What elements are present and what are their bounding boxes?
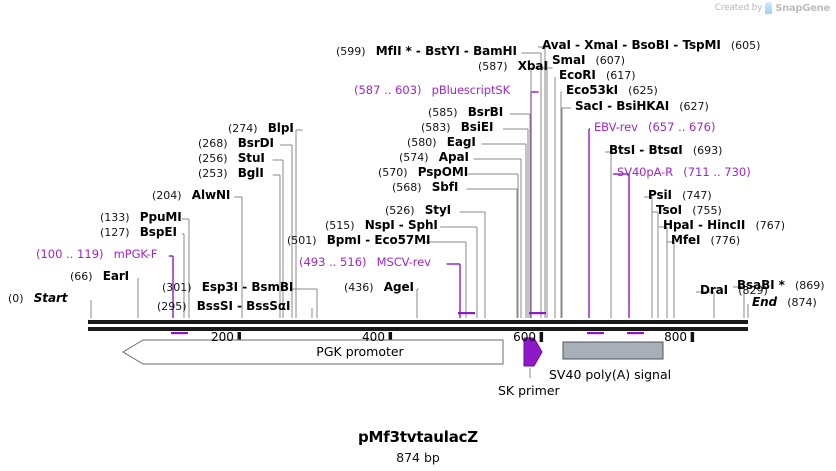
- enzyme-label-bglI[interactable]: (253) BglI: [198, 164, 264, 180]
- enzyme-name: BstYI: [425, 44, 460, 58]
- label-gap: [182, 184, 192, 203]
- enzyme-position: (66): [70, 270, 93, 283]
- enzyme-name: Start: [34, 291, 68, 305]
- enzyme-name-separator: -: [412, 44, 425, 58]
- label-gap: [638, 116, 648, 135]
- enzyme-name: SphI: [408, 218, 438, 232]
- label-gap: [366, 40, 376, 59]
- enzyme-position: (580): [407, 136, 437, 149]
- enzyme-position: (693): [693, 144, 723, 157]
- enzyme-name-separator: -: [603, 99, 616, 113]
- enzyme-name-group: EBV-rev: [594, 116, 638, 135]
- enzyme-name: EagI: [447, 135, 476, 149]
- label-gap: [192, 276, 202, 295]
- enzyme-position: (526): [385, 204, 415, 217]
- enzyme-name-separator: -: [669, 38, 682, 52]
- enzyme-name-group: End: [752, 291, 777, 310]
- enzyme-label-bsrDI[interactable]: (268) BsrDI: [198, 134, 274, 150]
- label-gap: [93, 265, 103, 284]
- enzyme-label-stuI[interactable]: (256) StuI: [198, 149, 265, 165]
- enzyme-name-separator: -: [361, 233, 374, 247]
- plasmid-title-block: pMf3tvtaulacZ 874 bp: [0, 428, 836, 465]
- label-gap: [187, 295, 197, 314]
- enzyme-name-separator: -: [618, 38, 631, 52]
- enzyme-position: (599): [336, 45, 366, 58]
- enzyme-name-separator: -: [238, 280, 251, 294]
- enzyme-name: PspOMI: [418, 165, 468, 179]
- enzyme-name: SV40pA-R: [617, 165, 673, 179]
- enzyme-name: BlpI: [268, 121, 294, 135]
- enzyme-name-group: MfeI: [671, 229, 700, 248]
- enzyme-name-group: MfII * - BstYI - BamHI: [376, 40, 517, 59]
- enzyme-position: (493 .. 516): [299, 255, 367, 269]
- label-gap: [683, 139, 693, 158]
- label-gap: [669, 95, 679, 114]
- enzyme-label-bsabI[interactable]: BsaBI * (869): [737, 276, 825, 292]
- enzyme-name: pBluescriptSK: [432, 83, 510, 97]
- enzyme-label-earI[interactable]: (66) EarI: [70, 267, 129, 283]
- enzyme-name: MSCV-rev: [377, 255, 431, 269]
- enzyme-label-apaI[interactable]: (574) ApaI: [399, 148, 469, 164]
- enzyme-name: Esp3I: [202, 280, 238, 294]
- feature-highlight-segment: [627, 332, 644, 334]
- enzyme-label-end[interactable]: End (874): [752, 293, 817, 309]
- enzyme-name: Eco57MI: [374, 233, 430, 247]
- enzyme-position: (570): [378, 166, 408, 179]
- enzyme-position: (253): [198, 167, 228, 180]
- enzyme-label-mscv-rev[interactable]: (493 .. 516) MSCV-rev: [299, 253, 431, 269]
- enzyme-position: (133): [100, 211, 130, 224]
- enzyme-position: (515): [325, 219, 355, 232]
- enzyme-name-group: BlpI: [268, 117, 294, 136]
- label-gap: [745, 214, 755, 233]
- ruler-tick: [540, 332, 544, 342]
- enzyme-name-separator: -: [635, 143, 648, 157]
- enzyme-name: End: [752, 295, 777, 309]
- enzyme-name: PpuMI: [140, 210, 182, 224]
- enzyme-name: BssSI: [197, 299, 233, 313]
- enzyme-name: StyI: [425, 203, 451, 217]
- enzyme-label-bspEI[interactable]: (127) BspEI: [100, 223, 177, 239]
- feature-highlight-segment: [587, 332, 604, 334]
- enzyme-name: BsiHKAI: [616, 99, 669, 113]
- enzyme-name: ApaI: [439, 150, 469, 164]
- enzyme-position: (568): [392, 181, 422, 194]
- enzyme-label-ageI[interactable]: (436) AgeI: [344, 278, 414, 294]
- enzyme-name: MfeI: [671, 233, 700, 247]
- enzyme-name: TspMI: [682, 38, 720, 52]
- enzyme-position: (574): [399, 151, 429, 164]
- enzyme-name: AgeI: [384, 280, 414, 294]
- enzyme-position: (268): [198, 137, 228, 150]
- plasmid-size: 874 bp: [0, 450, 836, 465]
- feature-highlight-segment: [458, 312, 475, 314]
- enzyme-label-ppuMI[interactable]: (133) PpuMI: [100, 208, 182, 224]
- enzyme-position: (585): [428, 106, 458, 119]
- enzyme-label-esp3I-bsmbI[interactable]: (301) Esp3I - BsmBI: [162, 278, 293, 294]
- enzyme-position: (776): [711, 234, 741, 247]
- enzyme-name-separator: -: [395, 218, 408, 232]
- sequence-backbone: [88, 320, 748, 331]
- label-gap: [130, 206, 140, 225]
- enzyme-name-group: AgeI: [384, 276, 414, 295]
- enzyme-name: EarI: [103, 269, 129, 283]
- enzyme-name: SacI: [575, 99, 603, 113]
- label-gap: [700, 229, 710, 248]
- enzyme-name: BsaBI *: [737, 278, 785, 292]
- enzyme-label-bsrBI[interactable]: (585) BsrBI: [428, 103, 503, 119]
- label-gap: [374, 276, 384, 295]
- enzyme-name: BsrDI: [238, 136, 274, 150]
- enzyme-name-group: XbaI: [518, 55, 548, 74]
- enzyme-name-group: DraI: [700, 279, 728, 298]
- enzyme-position: (301): [162, 281, 192, 294]
- ruler-tick-label: 600: [513, 330, 536, 344]
- enzyme-name: HincII: [707, 218, 745, 232]
- enzyme-position: (874): [787, 296, 817, 309]
- enzyme-name-group: BssSI - BssSαI: [197, 295, 291, 314]
- enzyme-name: MfII *: [376, 44, 412, 58]
- enzyme-name: BamHI: [473, 44, 517, 58]
- enzyme-name-group: PpuMI: [140, 206, 182, 225]
- enzyme-label-pbluescriptsk[interactable]: (587 .. 603) pBluescriptSK: [354, 81, 510, 97]
- enzyme-name-group: BtsI - BtsαI: [609, 139, 683, 158]
- enzyme-name: BtsI: [609, 143, 635, 157]
- enzyme-label-bsiEI[interactable]: (583) BsiEI: [421, 118, 493, 134]
- label-gap: [258, 117, 268, 136]
- feature-label-sv40-polya-signal: SV40 poly(A) signal: [549, 367, 671, 382]
- enzyme-name-group: MSCV-rev: [377, 251, 431, 270]
- enzyme-label-xbaI[interactable]: (587) XbaI: [478, 57, 548, 73]
- enzyme-name-group: SacI - BsiHKAI: [575, 95, 669, 114]
- enzyme-name: SbfI: [432, 180, 459, 194]
- enzyme-name-group: StyI: [425, 199, 451, 218]
- enzyme-label-nspI-sphI[interactable]: (515) NspI - SphI: [325, 216, 438, 232]
- enzyme-label-btsI-btsai[interactable]: BtsI - BtsαI (693): [609, 141, 722, 157]
- enzyme-position: (587): [478, 60, 508, 73]
- label-gap: [721, 34, 731, 53]
- label-gap: [104, 243, 114, 262]
- enzyme-name: BsmBI: [251, 280, 293, 294]
- feature-label-pgk-promoter: PGK promoter: [220, 344, 500, 359]
- enzyme-name-group: pBluescriptSK: [432, 79, 510, 98]
- enzyme-position: (204): [152, 189, 182, 202]
- enzyme-name: BtsαI: [648, 143, 682, 157]
- ruler-tick-label: 400: [362, 330, 385, 344]
- label-gap: [458, 101, 468, 120]
- enzyme-position: (605): [731, 39, 761, 52]
- ruler-tick: [691, 332, 695, 342]
- feature-label-sk-primer: SK primer: [498, 383, 560, 398]
- enzyme-position: (657 .. 676): [648, 120, 716, 134]
- enzyme-name: mPGK-F: [114, 247, 158, 261]
- enzyme-name: BssSαI: [246, 299, 290, 313]
- enzyme-name: BsiEI: [461, 120, 494, 134]
- enzyme-name: NspI: [365, 218, 395, 232]
- label-gap: [24, 287, 34, 306]
- label-gap: [355, 214, 365, 233]
- enzyme-name-group: mPGK-F: [114, 243, 158, 262]
- enzyme-label-bsssI-bsssai[interactable]: (295) BssSI - BssSαI: [157, 297, 290, 313]
- plasmid-name: pMf3tvtaulacZ: [0, 428, 836, 446]
- enzyme-label-start[interactable]: (0) Start: [8, 289, 67, 305]
- enzyme-name-group: BsrBI: [468, 101, 503, 120]
- enzyme-name: DraI: [700, 283, 728, 297]
- enzyme-position: (0): [8, 292, 24, 305]
- label-gap: [422, 79, 432, 98]
- enzyme-name: StuI: [238, 151, 265, 165]
- feature-shape-sv40-polya-signal[interactable]: [563, 342, 663, 359]
- enzyme-label-eagI[interactable]: (580) EagI: [407, 133, 476, 149]
- feature-highlight-segment: [529, 312, 546, 314]
- enzyme-position: (587 .. 603): [354, 83, 422, 97]
- enzyme-label-sacI-bsihkai[interactable]: SacI - BsiHKAI (627): [575, 97, 709, 113]
- enzyme-position: (501): [287, 234, 317, 247]
- enzyme-position: (583): [421, 121, 451, 134]
- enzyme-position: (711 .. 730): [683, 165, 751, 179]
- enzyme-position: (295): [157, 300, 187, 313]
- feature-highlight-segment: [171, 332, 188, 334]
- enzyme-label-pspOMI[interactable]: (570) PspOMI: [378, 163, 468, 179]
- enzyme-name: BpmI: [327, 233, 361, 247]
- enzyme-position: (127): [100, 226, 130, 239]
- enzyme-label-styI[interactable]: (526) StyI: [385, 201, 451, 217]
- enzyme-name: AlwNI: [192, 188, 231, 202]
- enzyme-position: (256): [198, 152, 228, 165]
- enzyme-name-group: EarI: [103, 265, 129, 284]
- enzyme-name-group: AlwNI: [192, 184, 231, 203]
- enzyme-name: XbaI: [518, 59, 548, 73]
- ruler-tick-label: 800: [664, 330, 687, 344]
- enzyme-label-alwNI[interactable]: (204) AlwNI: [152, 186, 230, 202]
- enzyme-name-group: Start: [34, 287, 68, 306]
- ruler-tick-label: 200: [211, 330, 234, 344]
- label-gap: [415, 199, 425, 218]
- enzyme-position: (100 .. 119): [36, 247, 104, 261]
- enzyme-label-blpI[interactable]: (274) BlpI: [228, 119, 294, 135]
- label-gap: [673, 161, 683, 180]
- enzyme-name-separator: -: [233, 299, 246, 313]
- enzyme-name: BspEI: [140, 225, 177, 239]
- enzyme-name: BsoBI: [631, 38, 669, 52]
- enzyme-label-mfiI-bstyi-bamhi[interactable]: (599) MfII * - BstYI - BamHI: [336, 42, 517, 58]
- enzyme-position: (436): [344, 281, 374, 294]
- label-gap: [777, 291, 787, 310]
- label-gap: [367, 251, 377, 270]
- enzyme-label-sv40pa-r[interactable]: SV40pA-R (711 .. 730): [617, 163, 751, 179]
- enzyme-name: BglI: [238, 166, 264, 180]
- enzyme-position: (869): [795, 279, 825, 292]
- enzyme-label-ebv-rev[interactable]: EBV-rev (657 .. 676): [594, 118, 715, 134]
- enzyme-name-separator: -: [460, 44, 473, 58]
- enzyme-label-mfeI[interactable]: MfeI (776): [671, 231, 740, 247]
- enzyme-name-group: Esp3I - BsmBI: [202, 276, 294, 295]
- enzyme-label-mpgk-f[interactable]: (100 .. 119) mPGK-F: [36, 245, 157, 261]
- enzyme-label-bpmI-eco57mi[interactable]: (501) BpmI - Eco57MI: [287, 231, 430, 247]
- enzyme-position: (767): [755, 219, 785, 232]
- enzyme-position: (274): [228, 122, 258, 135]
- enzyme-name: BsrBI: [468, 105, 503, 119]
- enzyme-name-group: SV40pA-R: [617, 161, 673, 180]
- enzyme-position: (627): [679, 100, 709, 113]
- enzyme-name: EBV-rev: [594, 120, 638, 134]
- enzyme-label-sbfI[interactable]: (568) SbfI: [392, 178, 458, 194]
